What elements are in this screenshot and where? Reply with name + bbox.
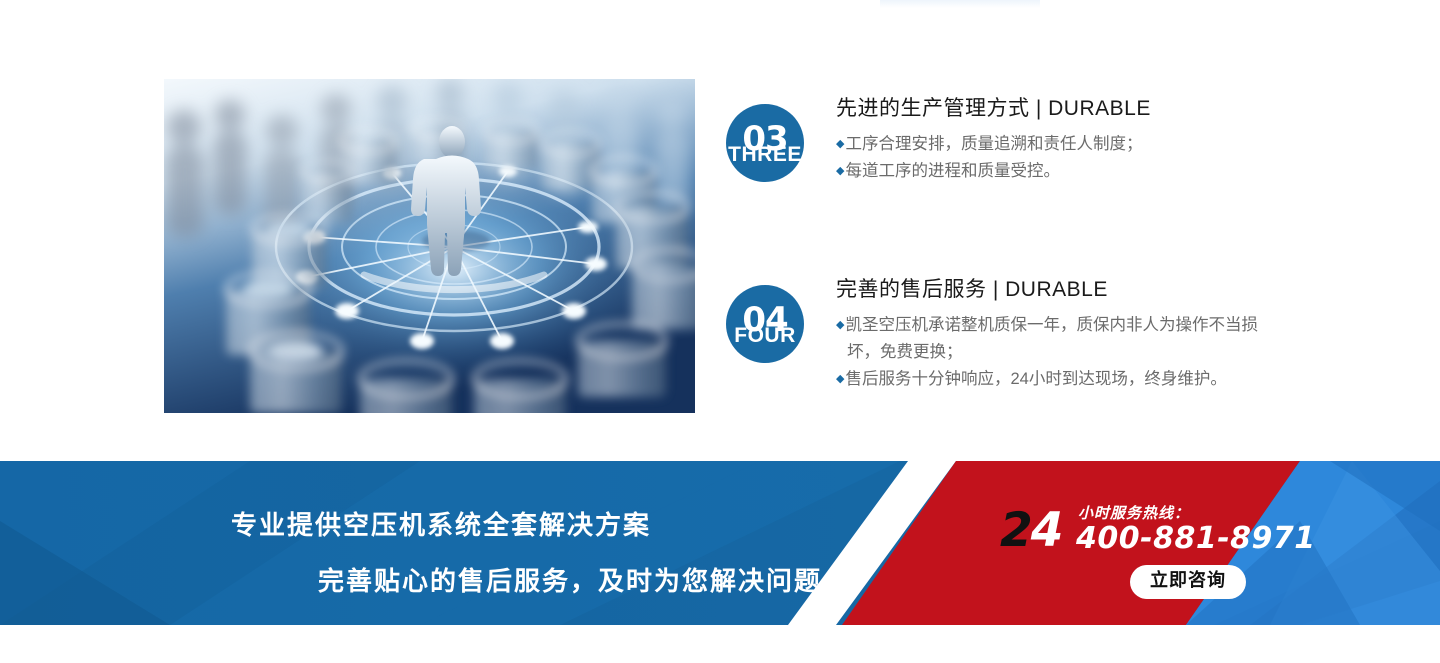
- feature-badge-04: 04 FOUR: [726, 285, 804, 363]
- feature-bullet: ◆工序合理安排，质量追溯和责任人制度；: [836, 131, 1266, 158]
- feature-item-03: 03 THREE 先进的生产管理方式 | DURABLE ◆工序合理安排，质量追…: [726, 96, 1266, 246]
- banner-background-shapes: [0, 461, 1440, 625]
- feature-body-04: 完善的售后服务 | DURABLE ◆凯圣空压机承诺整机质保一年，质保内非人为操…: [836, 277, 1266, 392]
- feature-badge-03: 03 THREE: [726, 104, 804, 182]
- network-people-illustration: [164, 79, 695, 413]
- feature-bullet: ◆每道工序的进程和质量受控。: [836, 158, 1266, 185]
- feature-bullet-text: 每道工序的进程和质量受控。: [845, 162, 1060, 180]
- feature-body-03: 先进的生产管理方式 | DURABLE ◆工序合理安排，质量追溯和责任人制度； …: [836, 96, 1266, 185]
- feature-list: 03 THREE 先进的生产管理方式 | DURABLE ◆工序合理安排，质量追…: [726, 96, 1266, 427]
- diamond-bullet-icon: ◆: [836, 373, 844, 385]
- feature-item-04: 04 FOUR 完善的售后服务 | DURABLE ◆凯圣空压机承诺整机质保一年…: [726, 277, 1266, 427]
- feature-bullet: ◆凯圣空压机承诺整机质保一年，质保内非人为操作不当损坏，免费更换；: [836, 312, 1266, 365]
- top-edge-remnant: [880, 0, 1040, 8]
- feature-bullet-text: 工序合理安排，质量追溯和责任人制度；: [845, 135, 1142, 153]
- feature-photo: [164, 79, 695, 413]
- feature-title: 完善的售后服务 | DURABLE: [836, 277, 1266, 303]
- feature-bullet-text: 凯圣空压机承诺整机质保一年，质保内非人为操作不当损坏，免费更换；: [845, 316, 1258, 361]
- feature-bullet-list: ◆工序合理安排，质量追溯和责任人制度； ◆每道工序的进程和质量受控。: [836, 131, 1266, 184]
- diamond-bullet-icon: ◆: [836, 138, 844, 150]
- feature-title: 先进的生产管理方式 | DURABLE: [836, 96, 1266, 122]
- diamond-bullet-icon: ◆: [836, 319, 844, 331]
- feature-bullet: ◆售后服务十分钟响应，24小时到达现场，终身维护。: [836, 366, 1266, 393]
- bottom-cta-banner: 专业提供空压机系统全套解决方案 完善贴心的售后服务，及时为您解决问题 24 小时…: [0, 461, 1440, 625]
- feature-bullet-text: 售后服务十分钟响应，24小时到达现场，终身维护。: [845, 370, 1226, 388]
- feature-badge-word: THREE: [728, 144, 802, 165]
- feature-bullet-list: ◆凯圣空压机承诺整机质保一年，质保内非人为操作不当损坏，免费更换； ◆售后服务十…: [836, 312, 1266, 392]
- feature-badge-word: FOUR: [734, 325, 796, 346]
- diamond-bullet-icon: ◆: [836, 165, 844, 177]
